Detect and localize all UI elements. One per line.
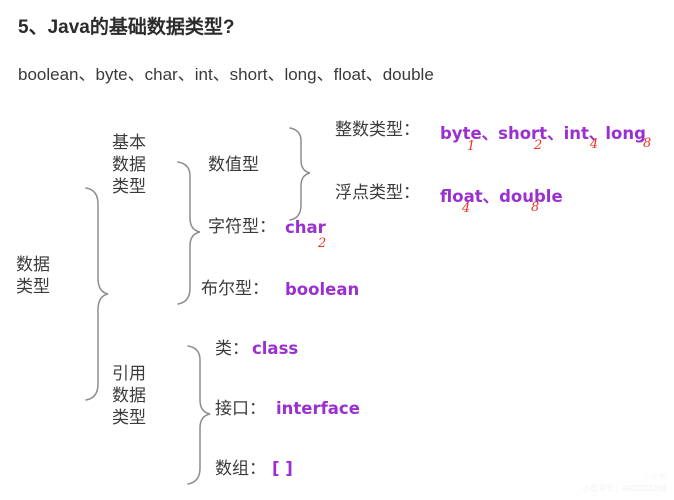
brace-primitive — [178, 162, 200, 304]
node-interface-label: 接口： — [215, 398, 266, 420]
node-class-label: 类： — [215, 338, 249, 360]
annotation-double-bytes: 8 — [531, 200, 539, 215]
node-array-label: 数组： — [215, 458, 266, 480]
node-integer-type-label: 整数类型： — [335, 119, 420, 141]
code-char: char — [285, 218, 326, 237]
code-array: [ ] — [272, 459, 293, 478]
node-char-type-label: 字符型： — [208, 216, 276, 238]
node-float-type-label: 浮点类型： — [335, 182, 420, 204]
code-boolean: boolean — [285, 280, 359, 299]
node-reference-data-type: 引用 数据 类型 — [112, 363, 146, 429]
node-boolean-type-label: 布尔型： — [201, 278, 269, 300]
node-primitive-data-type: 基本 数据 类型 — [112, 132, 146, 198]
annotation-long-bytes: 8 — [643, 136, 651, 151]
page-title: 5、Java的基础数据类型? — [18, 12, 234, 39]
annotation-char-bytes: 2 — [318, 236, 326, 251]
tree-brace-lines — [0, 100, 674, 500]
brace-root — [86, 188, 108, 400]
brace-reference — [188, 346, 210, 484]
code-float-types: float、double — [440, 183, 563, 207]
annotation-short-bytes: 2 — [534, 138, 542, 153]
annotation-byte-bytes: 1 — [467, 139, 475, 154]
code-class: class — [252, 339, 298, 358]
annotation-float-bytes: 4 — [462, 201, 470, 216]
page-subtitle: boolean、byte、char、int、short、long、float、d… — [18, 60, 434, 85]
annotation-int-bytes: 4 — [590, 137, 598, 152]
code-interface: interface — [276, 399, 360, 418]
slide-canvas: 5、Java的基础数据类型? boolean、byte、char、int、sho… — [0, 0, 674, 500]
node-root-data-type: 数据 类型 — [16, 254, 50, 298]
node-numeric-type: 数值型 — [208, 154, 259, 176]
brace-numeric — [290, 128, 310, 220]
data-type-tree-diagram: 数据 类型 基本 数据 类型 引用 数据 类型 数值型 整数类型： byte、s… — [0, 100, 674, 500]
